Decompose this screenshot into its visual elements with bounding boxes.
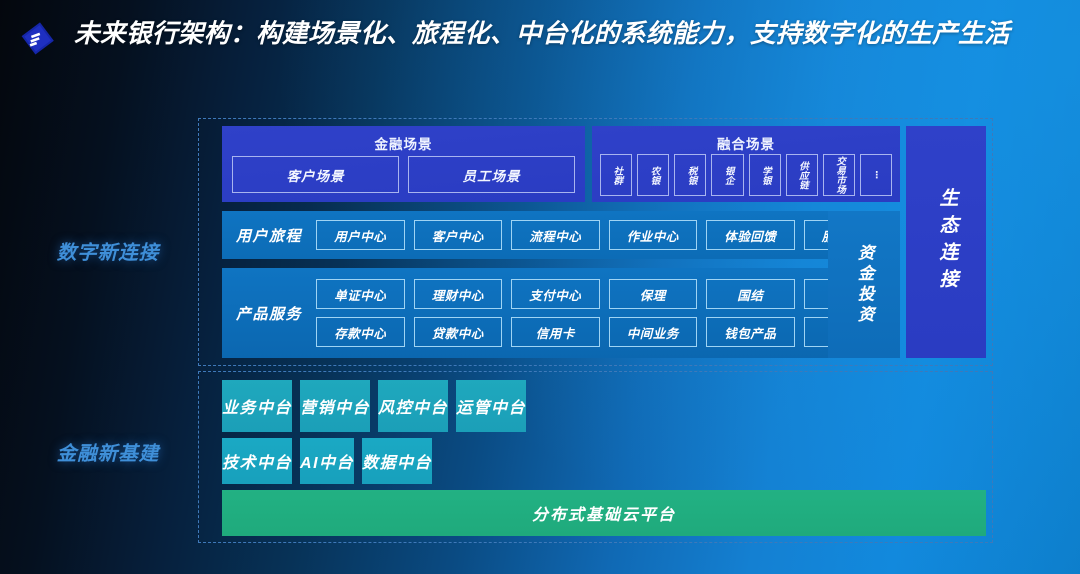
product-service-label: 产品服务 — [236, 303, 302, 324]
product-payment-center[interactable]: 支付中心 — [511, 279, 600, 309]
distributed-cloud-platform-bar[interactable]: 分布式基础云平台 — [222, 490, 986, 536]
journey-experience-feedback[interactable]: 体验回馈 — [706, 220, 795, 250]
ecosystem-connection-column[interactable]: 生态连接 — [906, 126, 986, 358]
financial-scenario-panel: 金融场景 客户场景 员工场景 — [222, 126, 585, 202]
platform-ai[interactable]: AI中台 — [300, 438, 354, 484]
scenario-customer[interactable]: 客户场景 — [232, 156, 399, 193]
scenario-employee[interactable]: 员工场景 — [408, 156, 575, 193]
cloud-platform-label: 分布式基础云平台 — [532, 501, 676, 525]
platform-risk[interactable]: 风控中台 — [378, 380, 448, 432]
product-intl-settlement[interactable]: 国结 — [706, 279, 795, 309]
mid-platform-tier-2: 技术中台 AI中台 数据中台 — [222, 438, 986, 484]
ecosystem-connection-label: 生态连接 — [936, 188, 957, 296]
financial-scenario-title: 金融场景 — [222, 133, 585, 153]
scenario-more-ellipsis[interactable]: ⋮ — [860, 154, 892, 196]
product-wealth-center[interactable]: 理财中心 — [414, 279, 503, 309]
fused-scenario-panel: 融合场景 社群 农银 税银 银企 学银 供应链 交易市场 ⋮ — [592, 126, 900, 202]
platform-data[interactable]: 数据中台 — [362, 438, 432, 484]
product-loan-center[interactable]: 贷款中心 — [414, 317, 503, 347]
product-service-row: 产品服务 单证中心 理财中心 支付中心 保理 国结 信托 存款中心 贷款中心 信… — [222, 268, 900, 358]
product-wallet[interactable]: 钱包产品 — [706, 317, 795, 347]
product-service-items: 单证中心 理财中心 支付中心 保理 国结 信托 存款中心 贷款中心 信用卡 中间… — [316, 279, 892, 347]
user-journey-row: 用户旅程 用户中心 客户中心 流程中心 作业中心 体验回馈 服务评价 — [222, 211, 900, 259]
scenario-bank-corp[interactable]: 银企 — [711, 154, 743, 196]
scenario-trade-market[interactable]: 交易市场 — [823, 154, 855, 196]
financial-scenario-items: 客户场景 员工场景 — [232, 156, 575, 193]
product-document-center[interactable]: 单证中心 — [316, 279, 405, 309]
scenario-community[interactable]: 社群 — [600, 154, 632, 196]
capital-investment-label: 资金投资 — [855, 244, 873, 326]
capital-investment-column[interactable]: 资金投资 — [828, 211, 900, 358]
page-title: 未来银行架构：构建场景化、旅程化、中台化的系统能力，支持数字化的生产生活 — [74, 16, 1014, 53]
scenario-tax-bank[interactable]: 税银 — [674, 154, 706, 196]
slide-header: 未来银行架构：构建场景化、旅程化、中台化的系统能力，支持数字化的生产生活 — [0, 0, 1080, 105]
journey-customer-center[interactable]: 客户中心 — [414, 220, 503, 250]
journey-user-center[interactable]: 用户中心 — [316, 220, 405, 250]
section-label-digital-connection: 数字新连接 — [18, 236, 198, 265]
scenario-agri-bank[interactable]: 农银 — [637, 154, 669, 196]
product-factoring[interactable]: 保理 — [609, 279, 698, 309]
user-journey-items: 用户中心 客户中心 流程中心 作业中心 体验回馈 服务评价 — [316, 220, 892, 250]
journey-process-center[interactable]: 流程中心 — [511, 220, 600, 250]
fused-scenario-items: 社群 农银 税银 银企 学银 供应链 交易市场 ⋮ — [600, 154, 892, 196]
diamond-logo-icon — [18, 20, 58, 60]
product-intermediary[interactable]: 中间业务 — [609, 317, 698, 347]
platform-technology[interactable]: 技术中台 — [222, 438, 292, 484]
user-journey-label: 用户旅程 — [236, 225, 302, 246]
platform-business[interactable]: 业务中台 — [222, 380, 292, 432]
journey-operation-center[interactable]: 作业中心 — [609, 220, 698, 250]
scenario-supply-chain[interactable]: 供应链 — [786, 154, 818, 196]
mid-platform-tier-1: 业务中台 营销中台 风控中台 运管中台 — [222, 380, 986, 432]
scenario-edu-bank[interactable]: 学银 — [749, 154, 781, 196]
section-label-financial-infrastructure: 金融新基建 — [18, 437, 198, 466]
fused-scenario-title: 融合场景 — [592, 133, 900, 153]
product-service-row-2: 存款中心 贷款中心 信用卡 中间业务 钱包产品 ...... — [316, 317, 892, 347]
platform-operations[interactable]: 运管中台 — [456, 380, 526, 432]
slide-canvas: 未来银行架构：构建场景化、旅程化、中台化的系统能力，支持数字化的生产生活 数字新… — [0, 0, 1080, 574]
product-deposit-center[interactable]: 存款中心 — [316, 317, 405, 347]
product-credit-card[interactable]: 信用卡 — [511, 317, 600, 347]
platform-marketing[interactable]: 营销中台 — [300, 380, 370, 432]
product-service-row-1: 单证中心 理财中心 支付中心 保理 国结 信托 — [316, 279, 892, 309]
